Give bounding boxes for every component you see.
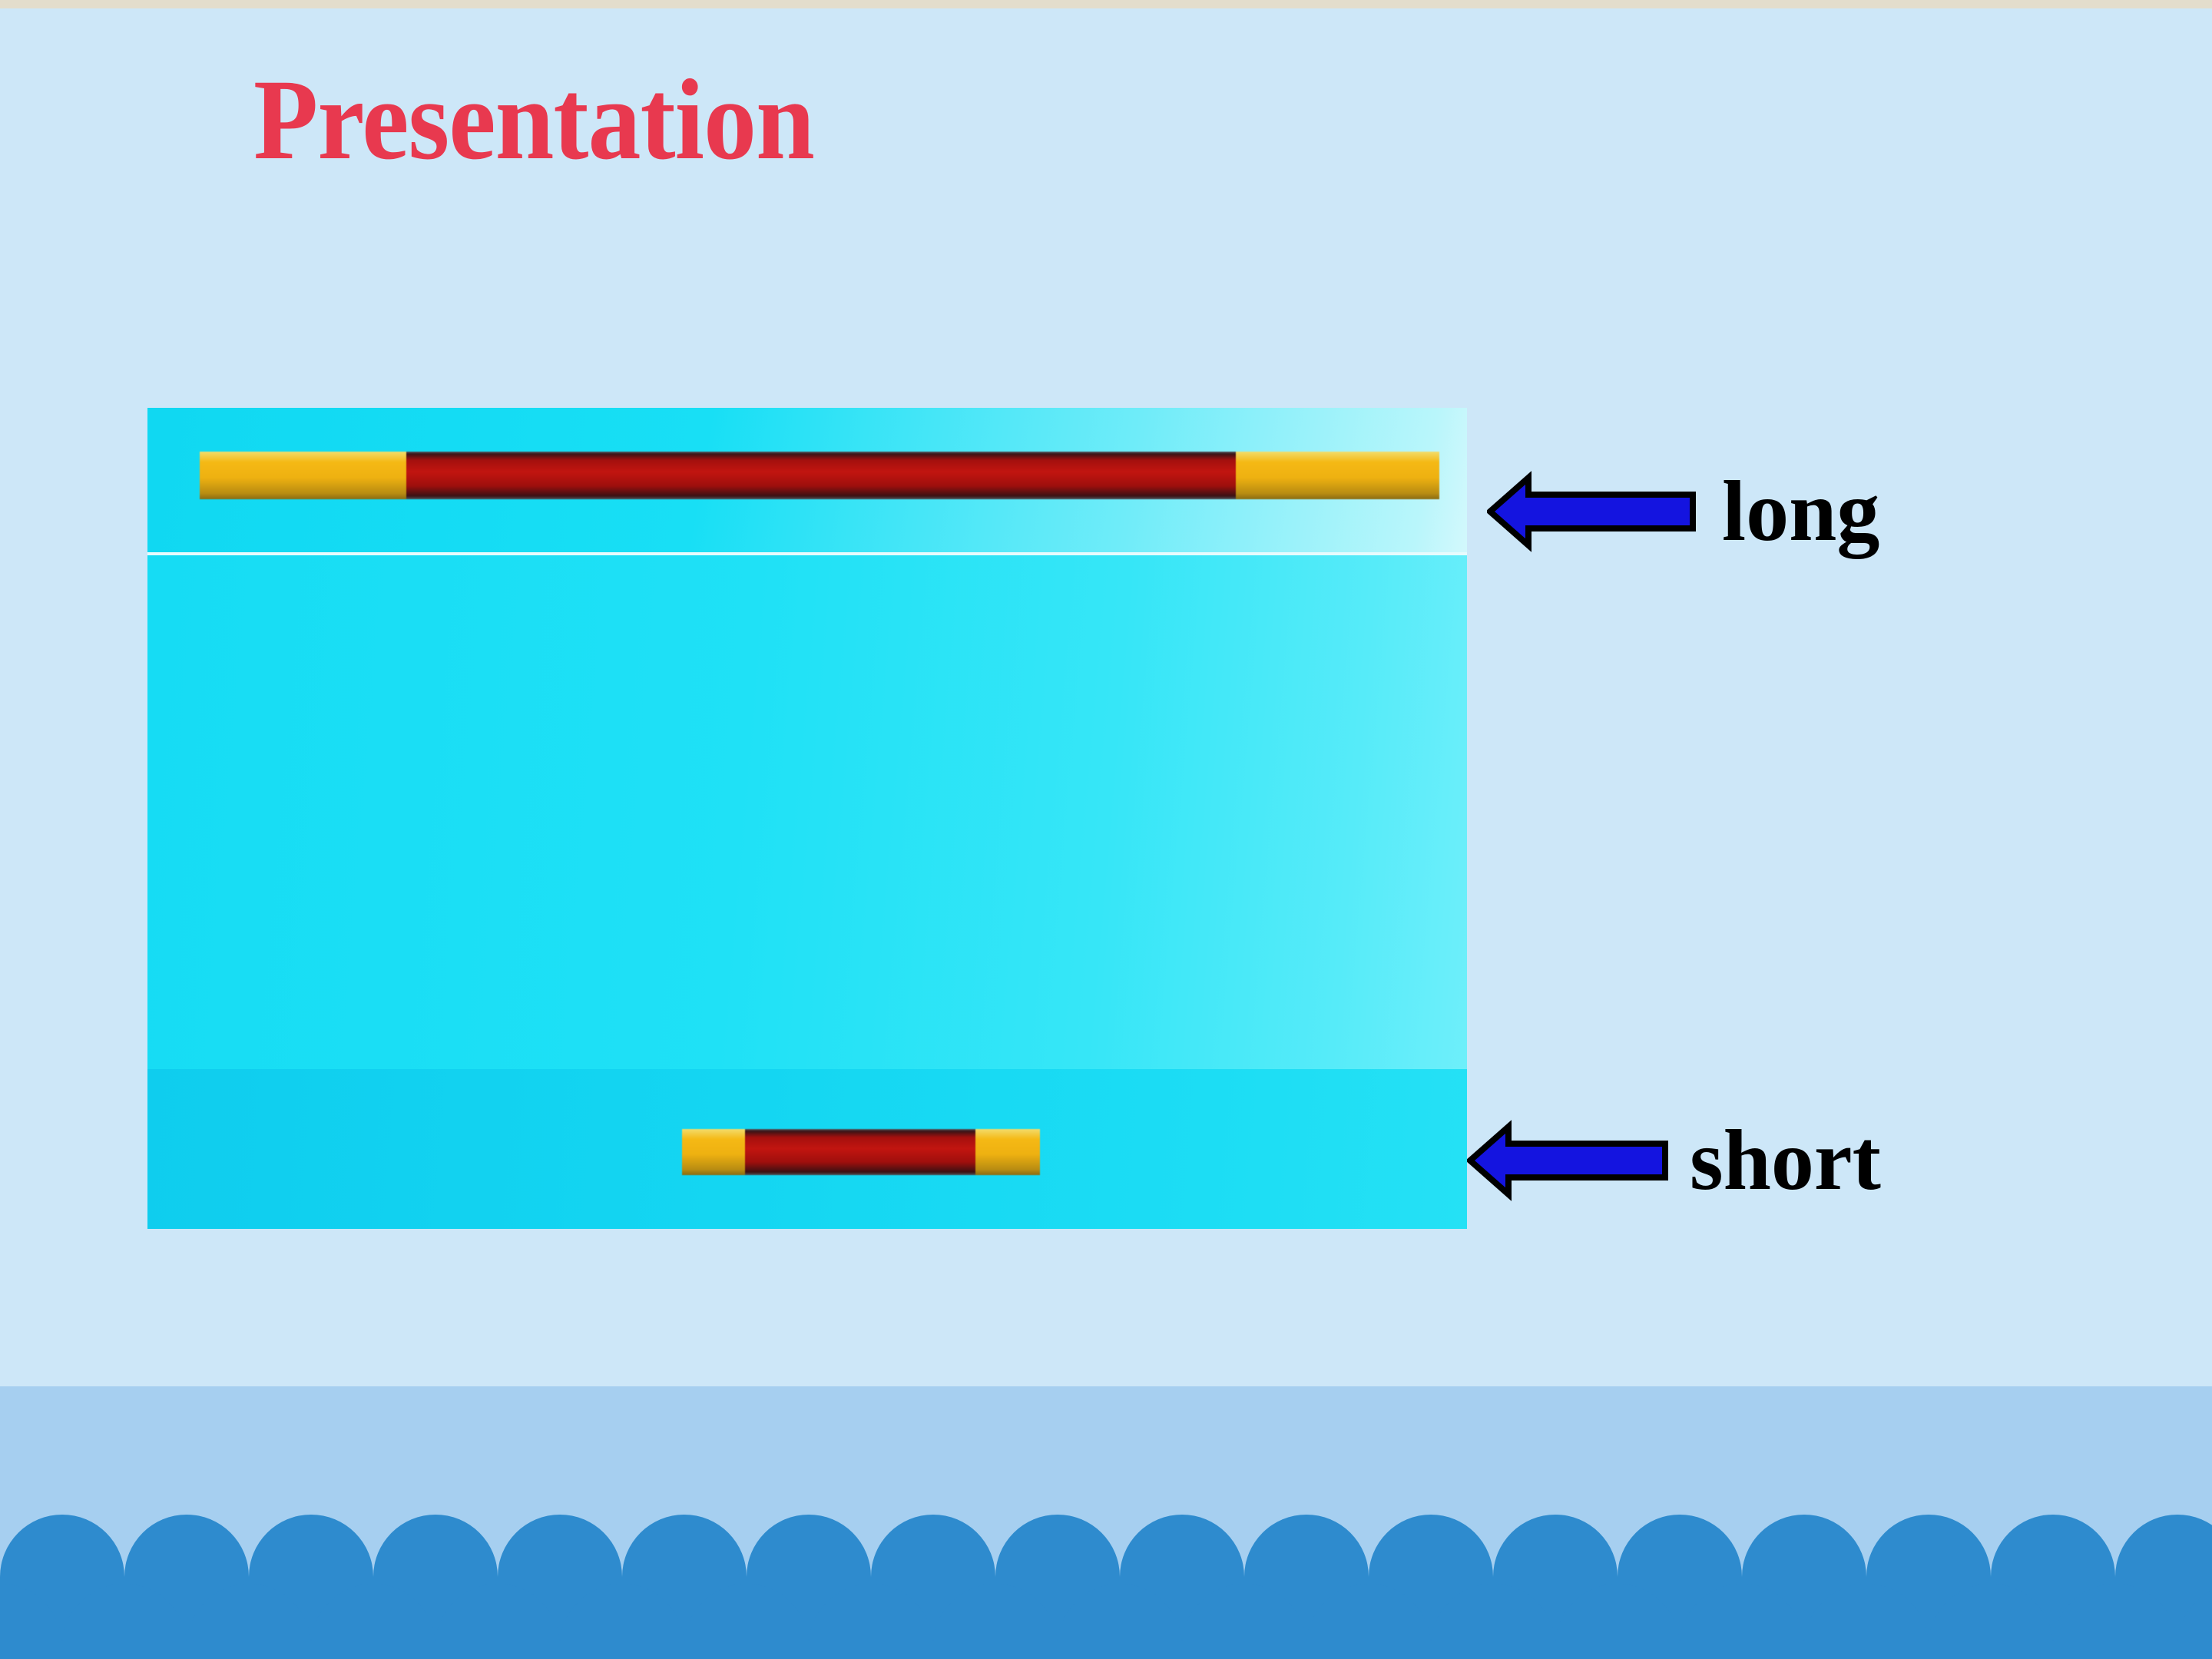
- annotation-long: long: [1487, 469, 1879, 555]
- arrow-left-icon: [1467, 1120, 1668, 1201]
- dome-shape: [1306, 1584, 1431, 1659]
- dome-shape: [1182, 1584, 1306, 1659]
- dome-shape: [0, 1584, 62, 1659]
- annotation-long-label: long: [1722, 469, 1879, 555]
- long-bar-cap-left: [200, 452, 406, 499]
- dome-shape: [1680, 1584, 1804, 1659]
- short-bar-cap-left: [682, 1129, 745, 1175]
- dome-shape: [1555, 1584, 1680, 1659]
- long-bar: [200, 452, 1439, 499]
- presentation-slide: Presentation long short: [0, 0, 2212, 1659]
- page-title: Presentation: [253, 60, 814, 181]
- dome-shape: [1804, 1584, 1929, 1659]
- dome-shape: [62, 1584, 187, 1659]
- dome-shape: [187, 1584, 311, 1659]
- dome-shape: [1929, 1584, 2053, 1659]
- arrow-left-icon: [1487, 471, 1696, 552]
- short-bar-core: [745, 1129, 975, 1175]
- long-bar-core: [406, 452, 1236, 499]
- top-edge-strip: [0, 0, 2212, 8]
- short-bar-cap-right: [975, 1129, 1040, 1175]
- dome-shape: [684, 1584, 809, 1659]
- dome-shape: [1058, 1584, 1182, 1659]
- annotation-short-label: short: [1690, 1118, 1881, 1204]
- dome-shape: [435, 1584, 560, 1659]
- dome-shape: [311, 1584, 435, 1659]
- dome-shape: [1431, 1584, 1555, 1659]
- cyan-photo-panel: [147, 408, 1467, 1229]
- dome-decoration-row-2: [0, 1584, 2150, 1659]
- annotation-short: short: [1467, 1118, 1881, 1204]
- dome-shape: [560, 1584, 684, 1659]
- short-bar: [682, 1129, 1040, 1175]
- panel-band-middle: [147, 555, 1467, 1069]
- dome-shape: [933, 1584, 1058, 1659]
- long-bar-cap-right: [1236, 452, 1439, 499]
- dome-shape: [809, 1584, 933, 1659]
